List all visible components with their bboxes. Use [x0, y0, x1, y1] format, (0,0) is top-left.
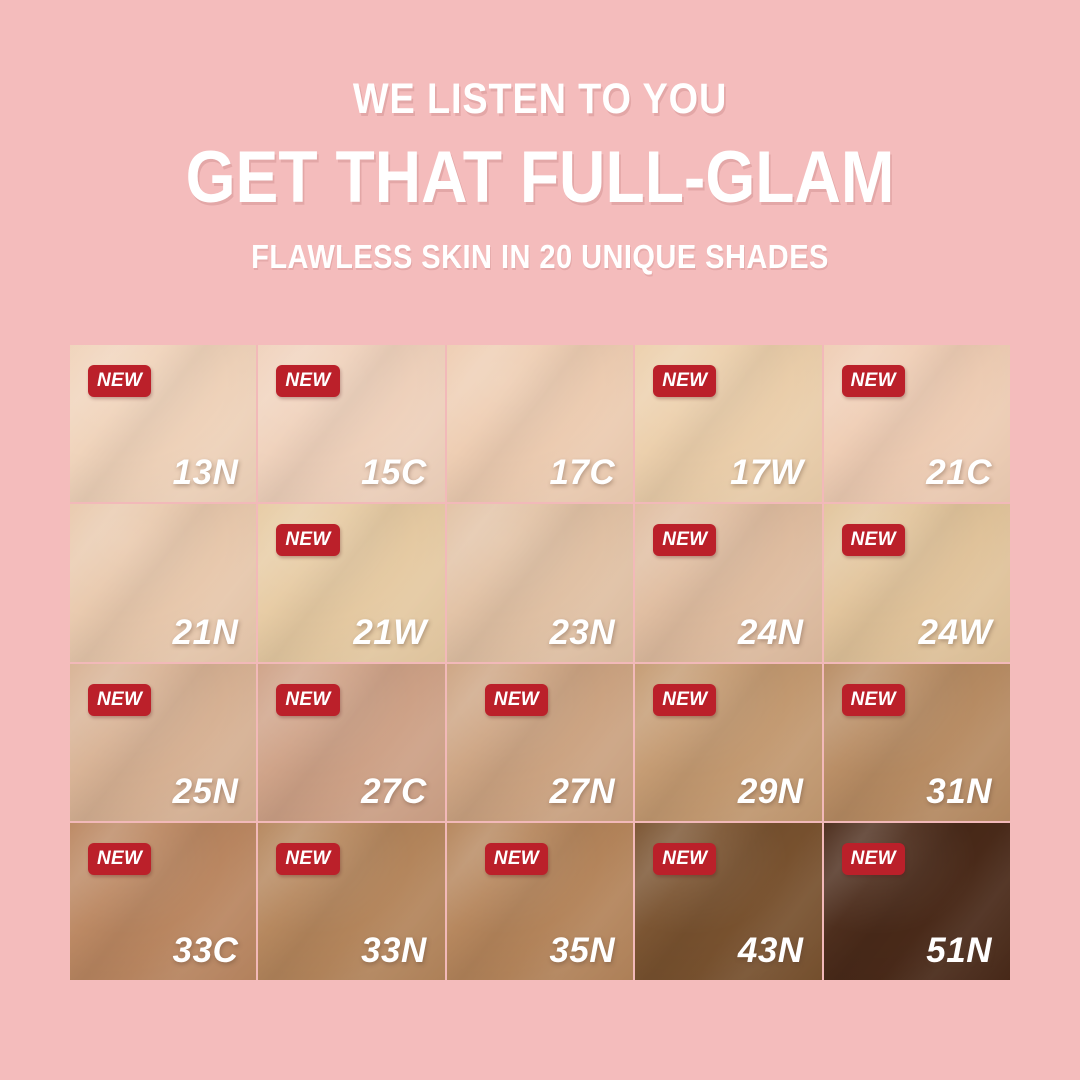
shade-code-label: 33C: [173, 933, 239, 968]
shade-swatch[interactable]: NEW29N: [635, 664, 821, 821]
new-badge: NEW: [842, 524, 905, 556]
shade-swatch[interactable]: NEW43N: [635, 823, 821, 980]
new-badge: NEW: [276, 684, 339, 716]
shade-swatch[interactable]: NEW27C: [258, 664, 444, 821]
new-badge: NEW: [485, 843, 548, 875]
new-badge: NEW: [842, 843, 905, 875]
shade-swatch[interactable]: NEW24N: [635, 504, 821, 661]
shade-code-label: 27N: [549, 774, 615, 809]
shade-swatch[interactable]: NEW31N: [824, 664, 1010, 821]
shade-code-label: 21N: [173, 615, 239, 650]
new-badge: NEW: [842, 684, 905, 716]
shade-code-label: 23N: [549, 615, 615, 650]
new-badge: NEW: [653, 365, 716, 397]
shade-swatch[interactable]: NEW33C: [70, 823, 256, 980]
new-badge: NEW: [276, 365, 339, 397]
main-headline: GET THAT FULL-GLAM: [65, 141, 1015, 214]
shade-swatch[interactable]: 17C: [447, 345, 633, 502]
shade-code-label: 15C: [361, 455, 427, 490]
new-badge: NEW: [88, 365, 151, 397]
shade-swatch[interactable]: 21N: [70, 504, 256, 661]
new-badge: NEW: [842, 365, 905, 397]
new-badge: NEW: [88, 684, 151, 716]
shade-code-label: 35N: [549, 933, 615, 968]
header-block: WE LISTEN TO YOU GET THAT FULL-GLAM FLAW…: [0, 78, 1080, 273]
shade-swatch[interactable]: NEW27N: [447, 664, 633, 821]
shade-swatch[interactable]: NEW17W: [635, 345, 821, 502]
shade-swatch[interactable]: NEW21W: [258, 504, 444, 661]
shade-code-label: 43N: [738, 933, 804, 968]
shade-swatch[interactable]: 23N: [447, 504, 633, 661]
eyebrow-headline: WE LISTEN TO YOU: [65, 78, 1015, 121]
shade-code-label: 27C: [361, 774, 427, 809]
shade-swatch[interactable]: NEW13N: [70, 345, 256, 502]
shade-code-label: 33N: [361, 933, 427, 968]
new-badge: NEW: [88, 843, 151, 875]
shade-code-label: 29N: [738, 774, 804, 809]
shade-code-label: 21W: [353, 615, 426, 650]
shade-swatch[interactable]: NEW25N: [70, 664, 256, 821]
sub-headline: FLAWLESS SKIN IN 20 UNIQUE SHADES: [65, 240, 1015, 273]
shade-swatch[interactable]: NEW51N: [824, 823, 1010, 980]
shade-code-label: 24W: [919, 615, 992, 650]
shade-code-label: 17C: [549, 455, 615, 490]
shade-code-label: 13N: [173, 455, 239, 490]
promo-canvas: WE LISTEN TO YOU GET THAT FULL-GLAM FLAW…: [0, 0, 1080, 1080]
shade-code-label: 21C: [926, 455, 992, 490]
shade-swatch[interactable]: NEW33N: [258, 823, 444, 980]
shade-swatch[interactable]: NEW35N: [447, 823, 633, 980]
new-badge: NEW: [276, 843, 339, 875]
shade-code-label: 17W: [730, 455, 803, 490]
shade-grid: NEW13NNEW15C17CNEW17WNEW21C21NNEW21W23NN…: [70, 345, 1010, 980]
shade-swatch[interactable]: NEW15C: [258, 345, 444, 502]
shade-code-label: 24N: [738, 615, 804, 650]
new-badge: NEW: [653, 684, 716, 716]
shade-swatch[interactable]: NEW24W: [824, 504, 1010, 661]
shade-code-label: 51N: [926, 933, 992, 968]
shade-swatch[interactable]: NEW21C: [824, 345, 1010, 502]
new-badge: NEW: [653, 843, 716, 875]
new-badge: NEW: [485, 684, 548, 716]
new-badge: NEW: [276, 524, 339, 556]
shade-code-label: 25N: [173, 774, 239, 809]
new-badge: NEW: [653, 524, 716, 556]
shade-code-label: 31N: [926, 774, 992, 809]
